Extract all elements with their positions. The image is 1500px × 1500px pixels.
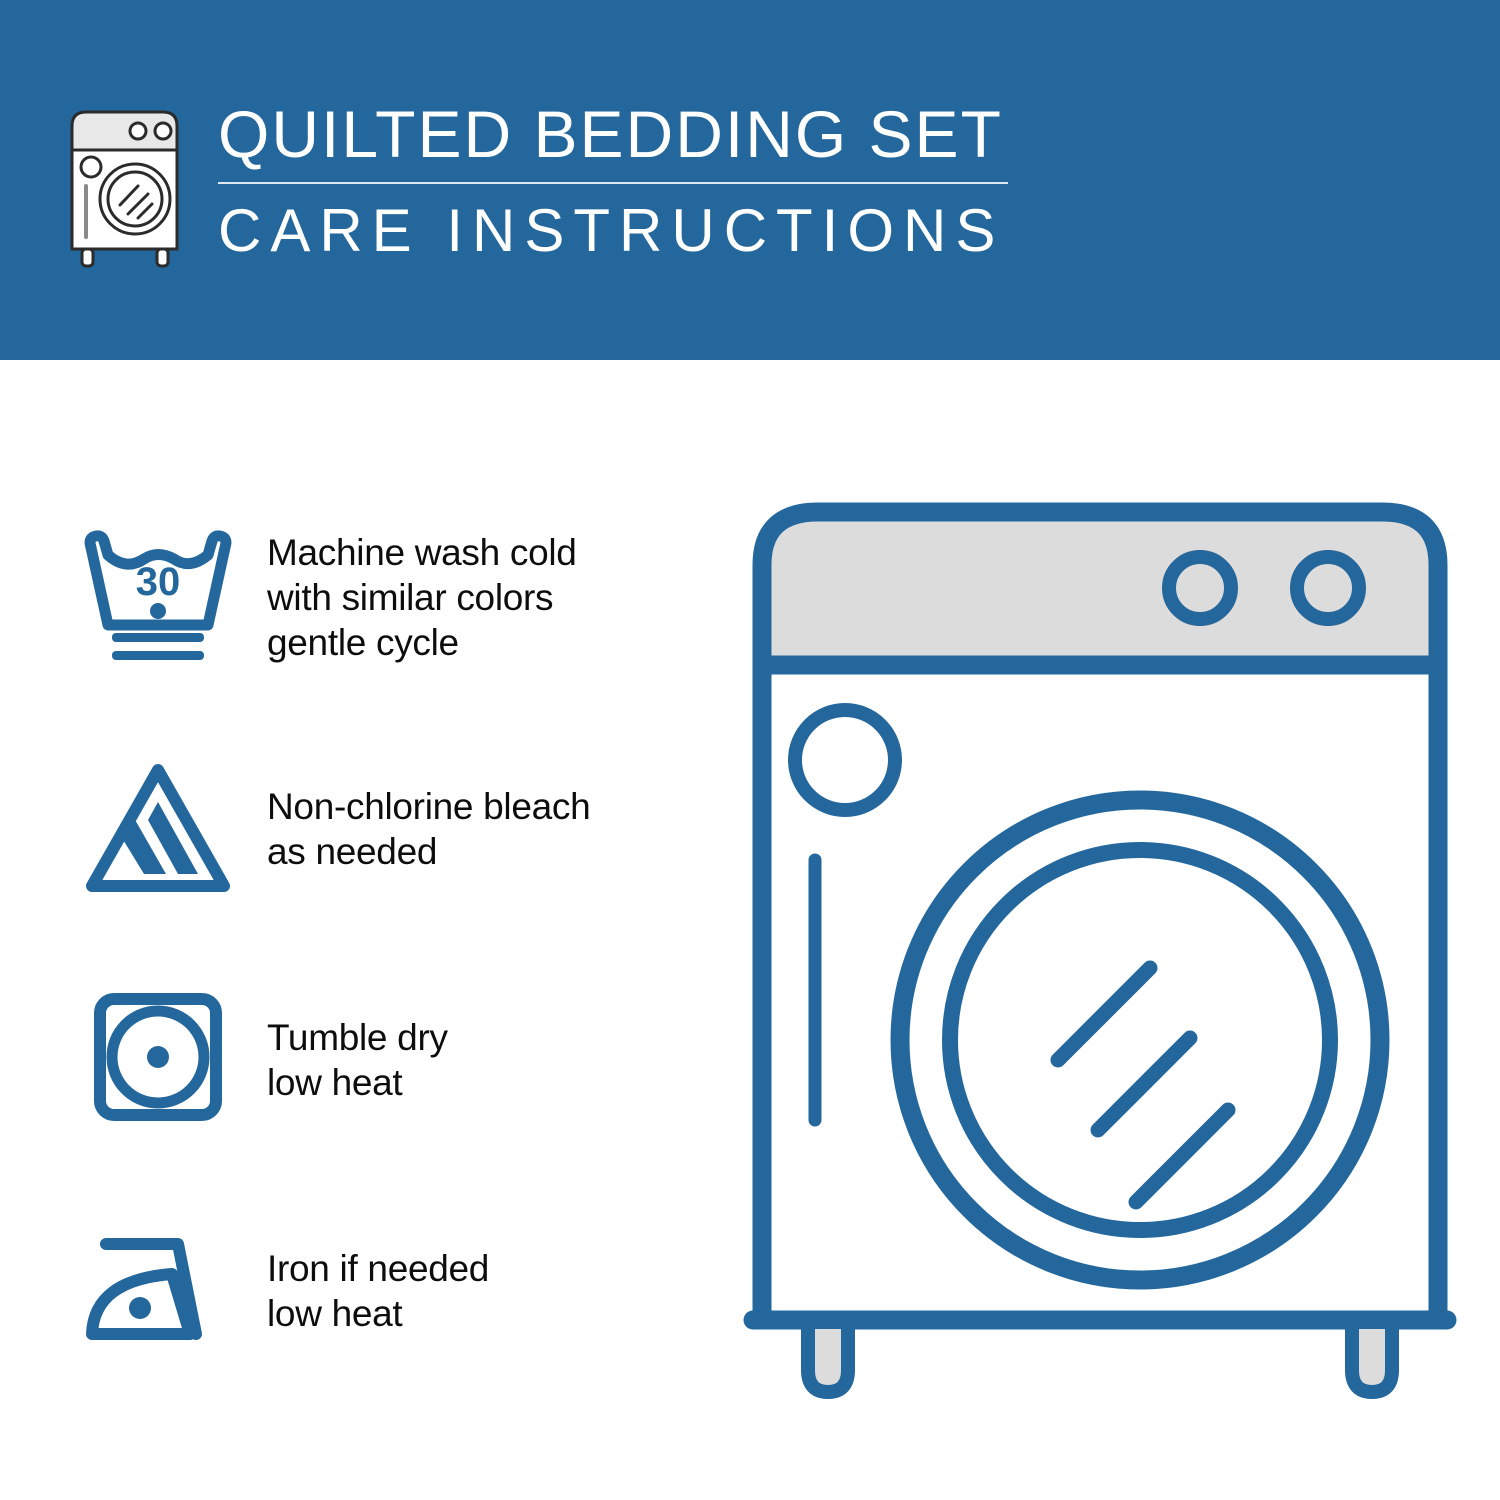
care-text-tumble-dry: Tumble dry low heat <box>245 1015 448 1105</box>
machine-leg-right <box>1352 1322 1392 1392</box>
care-text-line: low heat <box>267 1060 448 1105</box>
care-text-line: Tumble dry <box>267 1015 448 1060</box>
content-area: 30 Machine wash cold with similar colors… <box>0 360 1500 1500</box>
door-motion-line <box>1058 968 1150 1060</box>
header-text-block: QUILTED BEDDING SET CARE INSTRUCTIONS <box>218 96 1018 266</box>
front-load-washing-machine-illustration <box>740 490 1460 1420</box>
machine-leg-left <box>808 1322 848 1392</box>
care-row-bleach: Non-chlorine bleach as needed <box>70 741 720 916</box>
title-divider <box>218 182 1008 184</box>
care-text-line: gentle cycle <box>267 620 577 665</box>
care-text-line: low heat <box>267 1291 489 1336</box>
care-text-line: Iron if needed <box>267 1246 489 1291</box>
indicator-light <box>795 710 895 810</box>
care-row-iron: Iron if needed low heat <box>70 1203 720 1378</box>
iron-low-heat-symbol <box>70 1216 245 1366</box>
care-text-line: Non-chlorine bleach <box>267 784 590 829</box>
header-banner: QUILTED BEDDING SET CARE INSTRUCTIONS <box>0 0 1500 360</box>
page-title: QUILTED BEDDING SET <box>218 96 1018 172</box>
tumble-dry-low-symbol <box>70 985 245 1135</box>
care-text-iron: Iron if needed low heat <box>245 1246 489 1336</box>
wash-temperature-label: 30 <box>135 560 180 604</box>
page-subtitle: CARE INSTRUCTIONS <box>218 196 1018 266</box>
door-motion-line <box>1098 1038 1190 1130</box>
control-panel-fill <box>762 512 1438 665</box>
care-text-machine-wash: Machine wash cold with similar colors ge… <box>245 530 577 665</box>
door-inner-ring <box>950 850 1330 1230</box>
machine-wash-30-gentle-symbol: 30 <box>70 523 245 673</box>
care-instruction-list: 30 Machine wash cold with similar colors… <box>70 510 720 1378</box>
care-text-line: as needed <box>267 829 590 874</box>
care-text-line: Machine wash cold <box>267 530 577 575</box>
door-motion-line <box>1136 1110 1228 1202</box>
care-text-line: with similar colors <box>267 575 577 620</box>
non-chlorine-bleach-symbol <box>70 754 245 904</box>
washing-machine-icon <box>62 104 192 269</box>
care-row-machine-wash: 30 Machine wash cold with similar colors… <box>70 510 720 685</box>
care-row-tumble-dry: Tumble dry low heat <box>70 972 720 1147</box>
care-text-bleach: Non-chlorine bleach as needed <box>245 784 590 874</box>
